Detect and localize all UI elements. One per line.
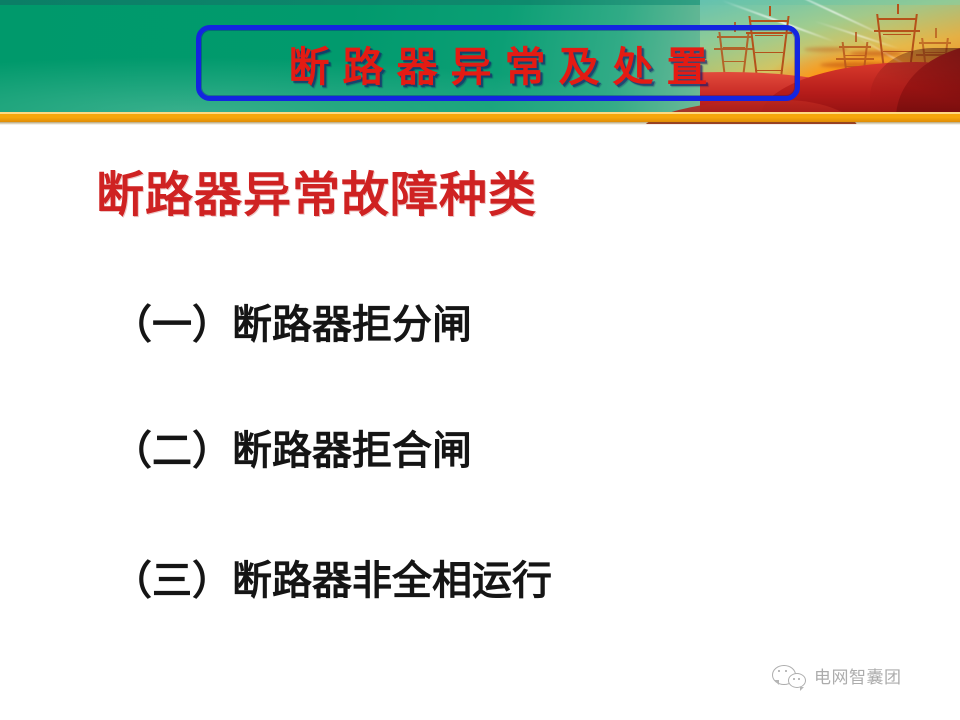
slide-banner: 断路器异常及处置: [0, 0, 960, 124]
watermark: 电网智囊团: [772, 662, 902, 688]
list-item: （二）断路器拒合闸: [112, 418, 472, 476]
list-item: （三）断路器非全相运行: [112, 548, 552, 606]
presentation-slide: 断路器异常及处置 断路器异常故障种类 （一）断路器拒分闸 （二）断路器拒合闸 （…: [0, 0, 960, 720]
section-heading: 断路器异常故障种类: [96, 170, 537, 221]
list-item: （一）断路器拒分闸: [112, 292, 472, 350]
banner-title: 断路器异常及处置: [196, 25, 800, 101]
slide-content: 断路器异常故障种类 （一）断路器拒分闸 （二）断路器拒合闸 （三）断路器非全相运…: [0, 124, 960, 720]
banner-accent-bar-highlight: [0, 112, 960, 114]
wechat-icon: [772, 662, 806, 688]
watermark-label: 电网智囊团: [814, 663, 902, 688]
